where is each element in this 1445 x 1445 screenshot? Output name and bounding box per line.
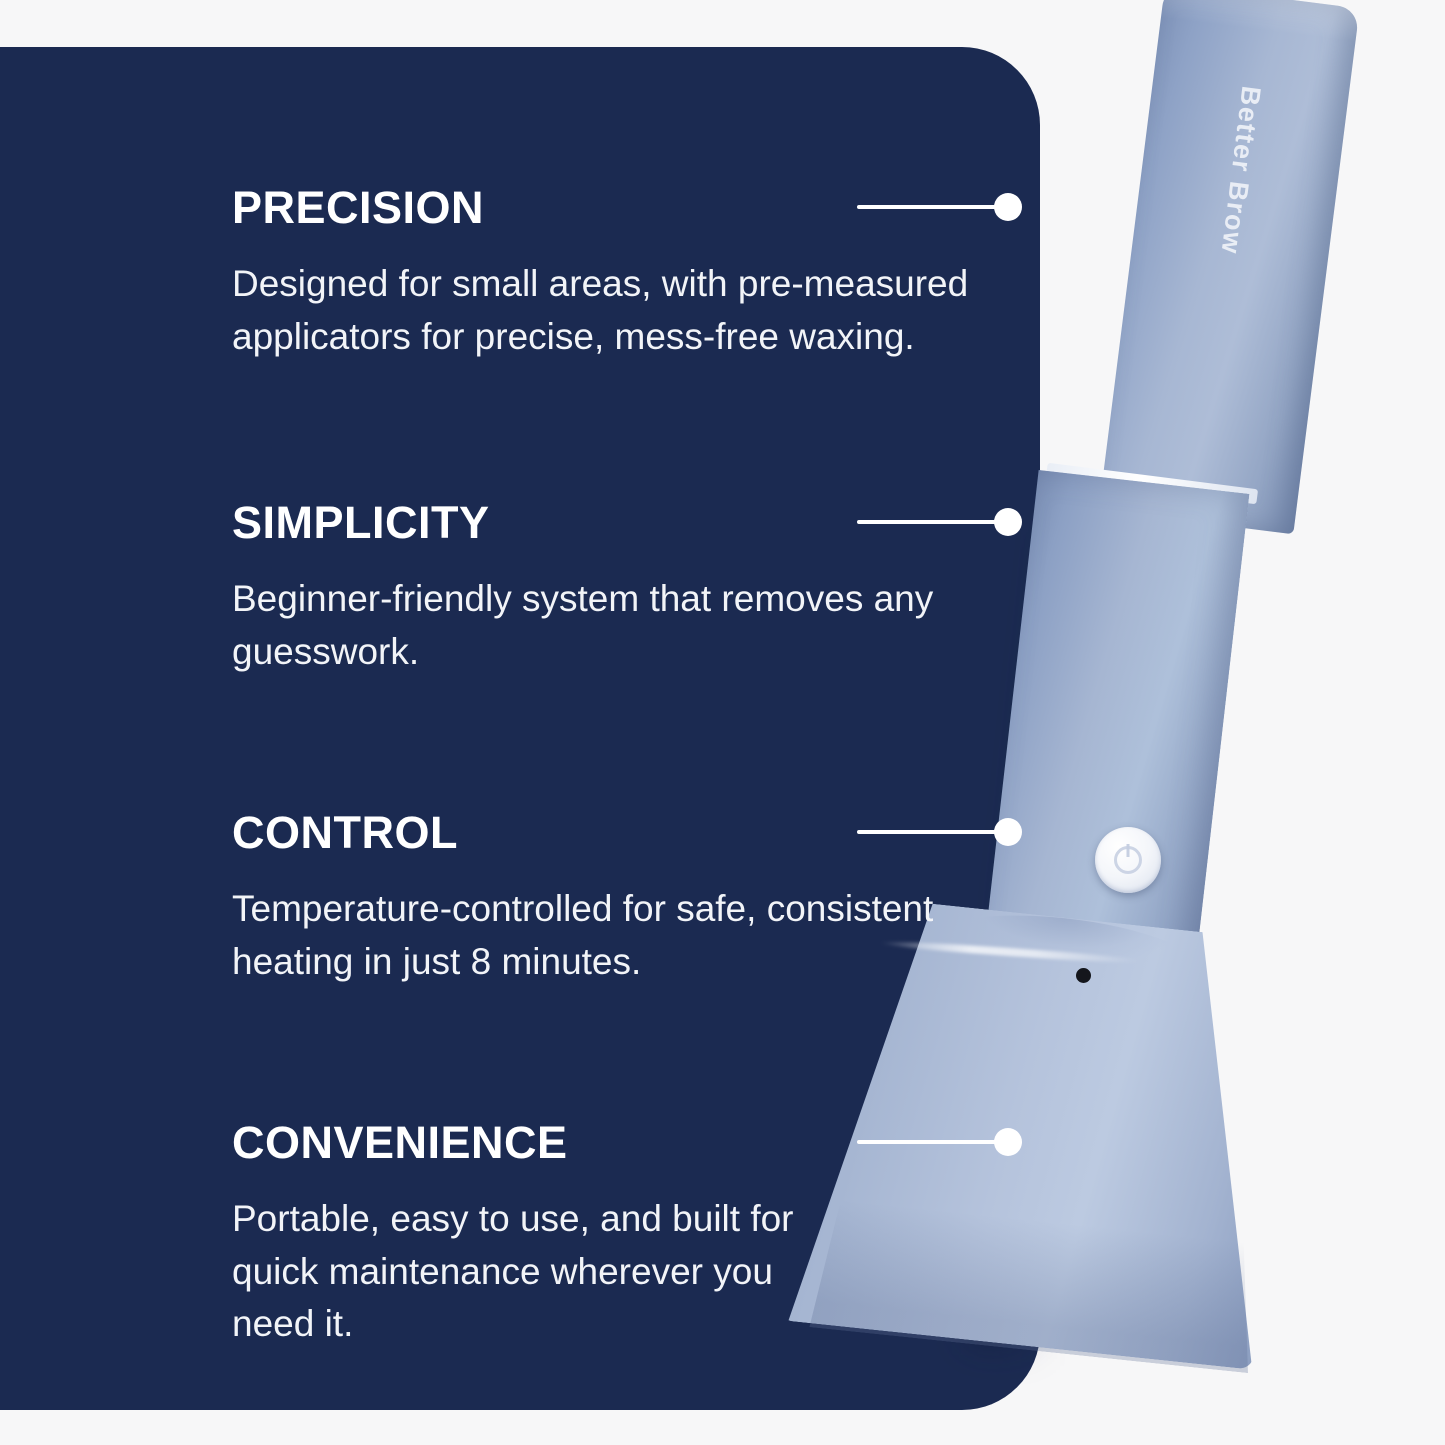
feature-title: CONTROL xyxy=(232,810,458,855)
feature-description: Portable, easy to use, and built for qui… xyxy=(232,1193,832,1351)
feature-item-simplicity: SIMPLICITY Beginner-friendly system that… xyxy=(232,491,1022,678)
feature-title: PRECISION xyxy=(232,185,484,230)
power-symbol-icon xyxy=(1114,846,1142,874)
connector-line xyxy=(857,205,997,209)
product-cap: Better Brow xyxy=(1099,0,1360,534)
connector-line xyxy=(857,1140,997,1144)
feature-heading-row: PRECISION xyxy=(232,176,1022,238)
connector-line xyxy=(857,520,997,524)
line-dot-connector-icon xyxy=(827,193,1022,221)
feature-title: SIMPLICITY xyxy=(232,500,490,545)
feature-title: CONVENIENCE xyxy=(232,1120,568,1165)
feature-heading-row: SIMPLICITY xyxy=(232,491,1022,553)
led-indicator-icon xyxy=(1076,968,1091,983)
connector-dot xyxy=(994,508,1022,536)
feature-description: Beginner-friendly system that removes an… xyxy=(232,573,952,678)
line-dot-connector-icon xyxy=(787,1128,1022,1156)
connector-dot xyxy=(994,818,1022,846)
connector-line xyxy=(857,830,997,834)
product-body xyxy=(982,470,1249,991)
connector-dot xyxy=(994,1128,1022,1156)
feature-heading-row: CONTROL xyxy=(232,801,1022,863)
power-button-icon[interactable] xyxy=(1095,827,1161,893)
line-dot-connector-icon xyxy=(682,818,1022,846)
feature-item-precision: PRECISION Designed for small areas, with… xyxy=(232,176,1022,363)
feature-infographic: PRECISION Designed for small areas, with… xyxy=(0,0,1445,1445)
product-cap-highlight xyxy=(1161,0,1360,42)
product-brand-label: Better Brow xyxy=(1214,84,1266,256)
feature-item-convenience: CONVENIENCE Portable, easy to use, and b… xyxy=(232,1111,1022,1351)
line-dot-connector-icon xyxy=(717,508,1022,536)
feature-list: PRECISION Designed for small areas, with… xyxy=(232,176,1022,1351)
feature-item-control: CONTROL Temperature-controlled for safe,… xyxy=(232,801,1022,988)
feature-heading-row: CONVENIENCE xyxy=(232,1111,1022,1173)
connector-dot xyxy=(994,193,1022,221)
feature-description: Temperature-controlled for safe, consist… xyxy=(232,883,952,988)
feature-description: Designed for small areas, with pre-measu… xyxy=(232,258,1002,363)
